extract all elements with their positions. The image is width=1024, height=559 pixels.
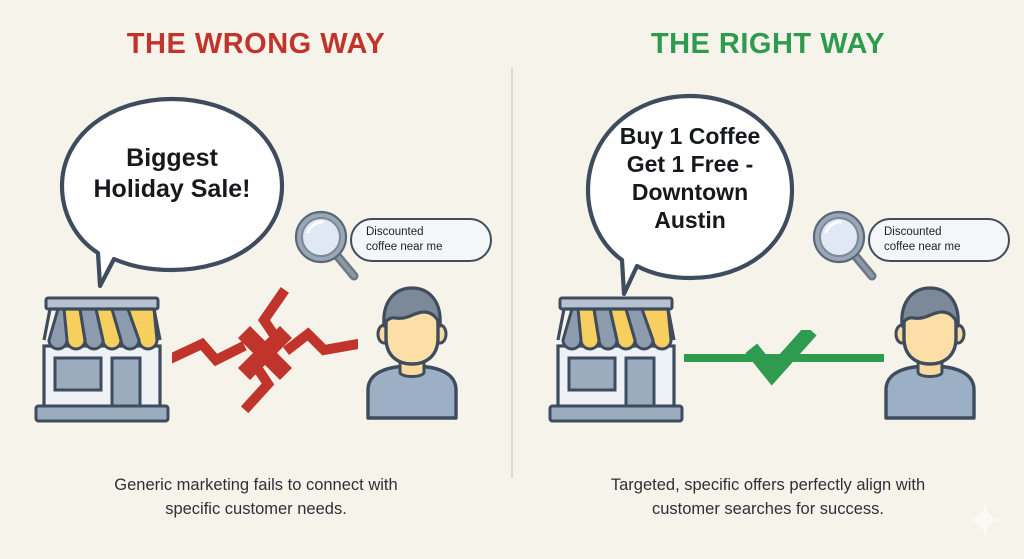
search-callout-wrong: Discounted coffee near me: [292, 206, 492, 276]
caption-wrong: Generic marketing fails to connect with …: [28, 474, 484, 521]
connected-check-icon: [684, 330, 884, 395]
sparkle-shape: [968, 503, 1002, 537]
search-query-pill[interactable]: Discounted coffee near me: [868, 218, 1010, 262]
search-query-pill[interactable]: Discounted coffee near me: [350, 218, 492, 262]
storefront-shape: [542, 288, 690, 428]
storefront-shape: [28, 288, 176, 428]
speech-bubble-wrong-text: Biggest Holiday Sale!: [58, 143, 286, 204]
customer-avatar-icon: [362, 286, 462, 425]
storefront-icon: [28, 288, 176, 433]
search-query-text: Discounted coffee near me: [884, 225, 961, 254]
broken-link-shape: [172, 282, 358, 414]
panel-title-wrong: THE WRONG WAY: [0, 28, 512, 61]
storefront-icon: [542, 288, 690, 433]
customer-avatar-shape: [880, 286, 980, 420]
search-callout-right: Discounted coffee near me: [810, 206, 1010, 276]
infographic-canvas: THE WRONG WAY Biggest Holiday Sale! Disc…: [0, 0, 1024, 559]
speech-bubble-wrong: Biggest Holiday Sale!: [58, 95, 286, 285]
panel-wrong-way: THE WRONG WAY Biggest Holiday Sale! Disc…: [0, 0, 512, 559]
customer-avatar-shape: [362, 286, 462, 420]
customer-avatar-icon: [880, 286, 980, 425]
broken-link-x-icon: [172, 282, 358, 419]
panel-right-way: THE RIGHT WAY Buy 1 Coffee Get 1 Free - …: [512, 0, 1024, 559]
caption-right: Targeted, specific offers perfectly alig…: [540, 474, 996, 521]
speech-bubble-right-text: Buy 1 Coffee Get 1 Free - Downtown Austi…: [584, 122, 796, 234]
connected-check-shape: [684, 330, 884, 390]
sparkle-icon: [968, 503, 1002, 537]
panel-title-right: THE RIGHT WAY: [512, 28, 1024, 61]
speech-bubble-right: Buy 1 Coffee Get 1 Free - Downtown Austi…: [584, 92, 796, 292]
search-query-text: Discounted coffee near me: [366, 225, 443, 254]
